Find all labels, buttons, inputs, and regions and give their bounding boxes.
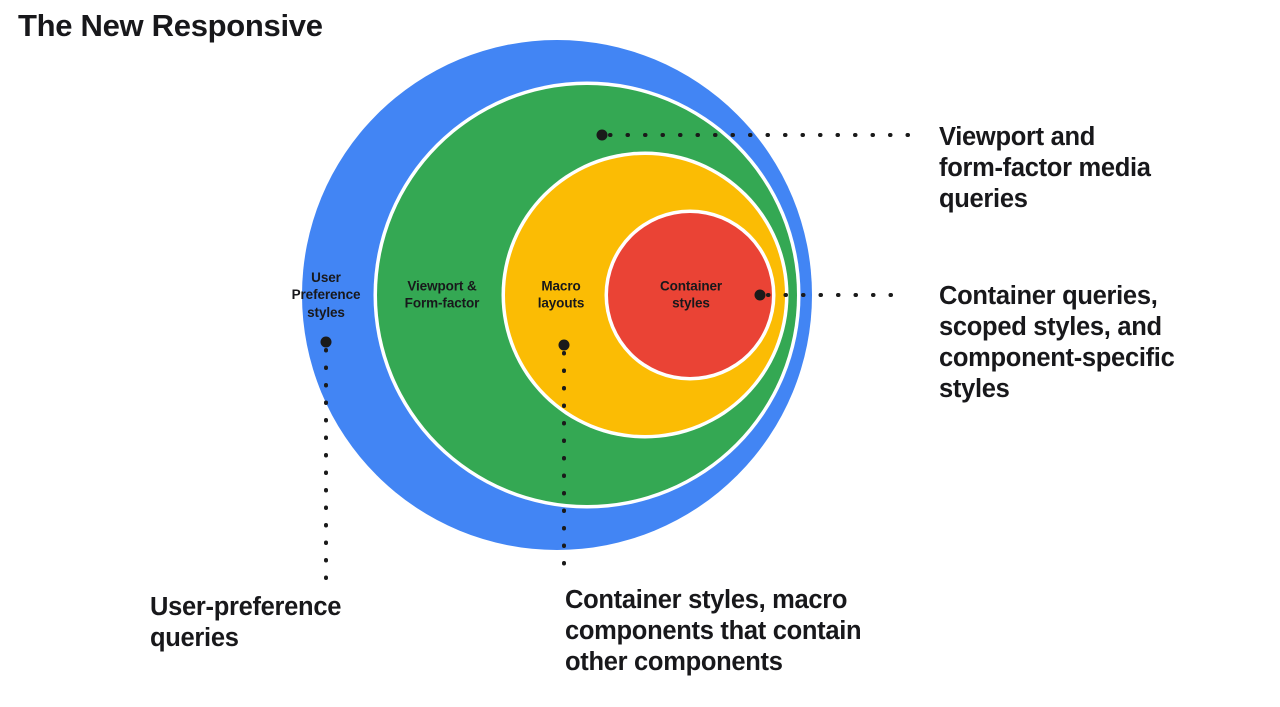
annotation-container-queries: Container queries, scoped styles, and co… (939, 281, 1279, 405)
leader-anchor-dot-viewport (597, 130, 608, 141)
ring-label-user-preference: User Preference styles (292, 269, 361, 321)
annotation-viewport-media-queries: Viewport and form-factor media queries (939, 122, 1269, 215)
annotation-user-preference-queries: User-preference queries (150, 592, 450, 654)
ring-label-container-styles: Container styles (660, 278, 722, 313)
leader-anchor-dot-container (755, 290, 766, 301)
ring-label-macro-layouts: Macro layouts (538, 278, 585, 313)
ring-label-viewport-form-factor: Viewport & Form-factor (405, 278, 480, 313)
leader-anchor-dot-macro (559, 340, 570, 351)
leader-anchor-dot-userpref (321, 337, 332, 348)
annotation-macro-components: Container styles, macro components that … (565, 585, 995, 678)
